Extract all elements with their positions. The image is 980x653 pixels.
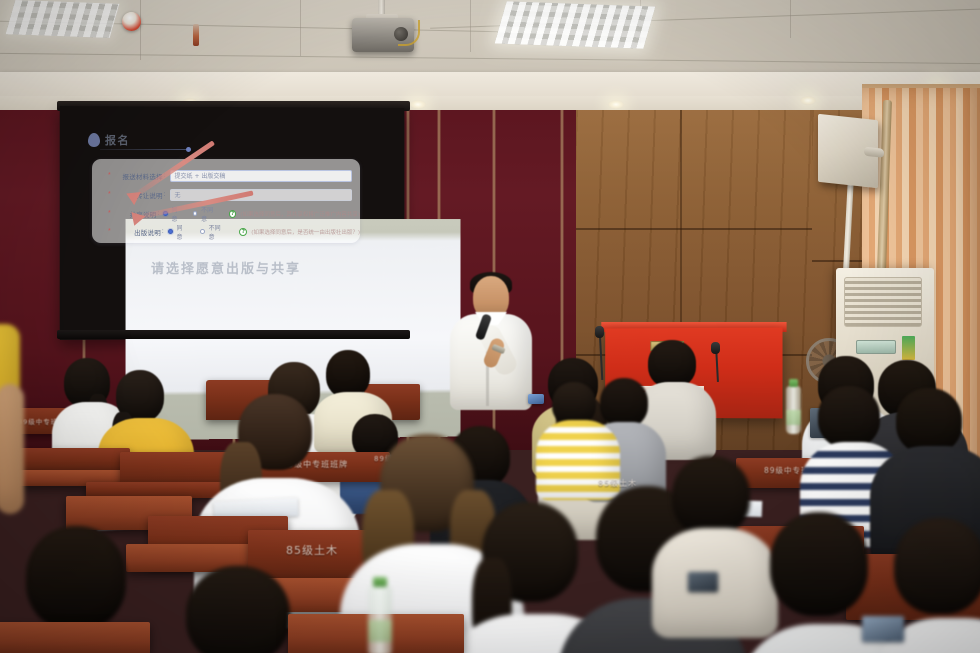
publish-disagree-label: 不同意: [209, 223, 226, 241]
wall-speaker: [818, 114, 878, 188]
attendee-head: [818, 386, 880, 448]
form-label-publish: 出版说明: [111, 227, 161, 237]
smoke-detector-icon: [122, 12, 141, 31]
attendee-head: [770, 512, 868, 616]
slide-title: 报名: [105, 132, 130, 148]
bottle-label: [786, 410, 801, 425]
desk-surface: [0, 622, 150, 653]
water-bottle: [786, 386, 801, 434]
materials-input[interactable]: 提交纸 + 出版交稿: [170, 170, 352, 182]
attendee-head: [894, 518, 980, 614]
smartphone: [528, 394, 544, 404]
sprinkler-head-icon: [193, 24, 199, 46]
bottle-cap: [373, 577, 387, 587]
attendee-head: [648, 340, 696, 388]
share-disagree-label: 不同意: [201, 205, 215, 223]
projector-cable: [398, 20, 420, 46]
form-colon: :: [164, 191, 166, 198]
projected-slide: 报名 * 报送材料选择 : 提交纸 + 出版交稿 * 转让说明 : 无 * 共享…: [70, 128, 398, 308]
attendee-head: [326, 350, 370, 398]
publish-radio-group[interactable]: 同意 不同意: [168, 223, 234, 241]
ceiling-grid-light: [495, 1, 656, 48]
publish-help-icon[interactable]: ?: [239, 228, 247, 236]
share-disagree-radio[interactable]: [193, 211, 197, 216]
publish-agree-radio[interactable]: [168, 229, 173, 234]
attendee-head: [600, 378, 648, 428]
publish-disagree-radio[interactable]: [200, 229, 205, 234]
water-bottle: [368, 586, 392, 653]
lecture-hall-photo: 报名 * 报送材料选择 : 提交纸 + 出版交稿 * 转让说明 : 无 * 共享…: [0, 0, 980, 653]
desk-row-mid: [120, 452, 230, 486]
publish-help-text: (如果选择同意后，是否统一由出版社出版？): [251, 228, 360, 236]
attendee-head: [896, 388, 962, 454]
slide-header-rule-dot: [186, 147, 191, 152]
bottle-label: [368, 620, 392, 642]
form-row-publish: * 出版说明 : 同意 不同意 ? (如果选择同意后，是否统一由出版社出版？): [92, 223, 360, 240]
smartphone: [862, 616, 904, 642]
speaker-mount-knob: [864, 147, 884, 158]
downlight-icon: [608, 100, 624, 109]
form-colon: :: [162, 228, 164, 235]
share-help-icon[interactable]: ?: [229, 210, 236, 218]
transfer-input[interactable]: 无: [170, 189, 352, 201]
attendee-head: [672, 456, 750, 536]
slide-header-rule: [100, 149, 188, 150]
audience-area: 89级中专班 土木班班牌: [0, 330, 980, 653]
form-row-materials: * 报送材料选择 : 提交纸 + 出版交稿: [92, 167, 360, 184]
downlight-icon: [410, 100, 426, 109]
publish-agree-label: 同意: [177, 223, 188, 241]
attendee-head: [26, 526, 126, 630]
attendee-head: [186, 566, 290, 653]
bottle-cap: [789, 379, 798, 387]
ac-grille: [844, 277, 922, 327]
slide-bullet-icon: [88, 133, 100, 147]
smartphone: [688, 572, 718, 592]
ceiling-grid-light: [6, 0, 120, 38]
slide-caption: 请选择愿意出版与共享: [92, 258, 360, 277]
downlight-icon: [800, 96, 816, 105]
desk-nameplate: 85级土木: [286, 542, 338, 558]
share-help-text: (如果选择同意后，其共享权将广泛推广内容共享): [240, 210, 360, 218]
attendee-arm: [0, 384, 24, 514]
slide-header: 报名: [88, 132, 130, 148]
